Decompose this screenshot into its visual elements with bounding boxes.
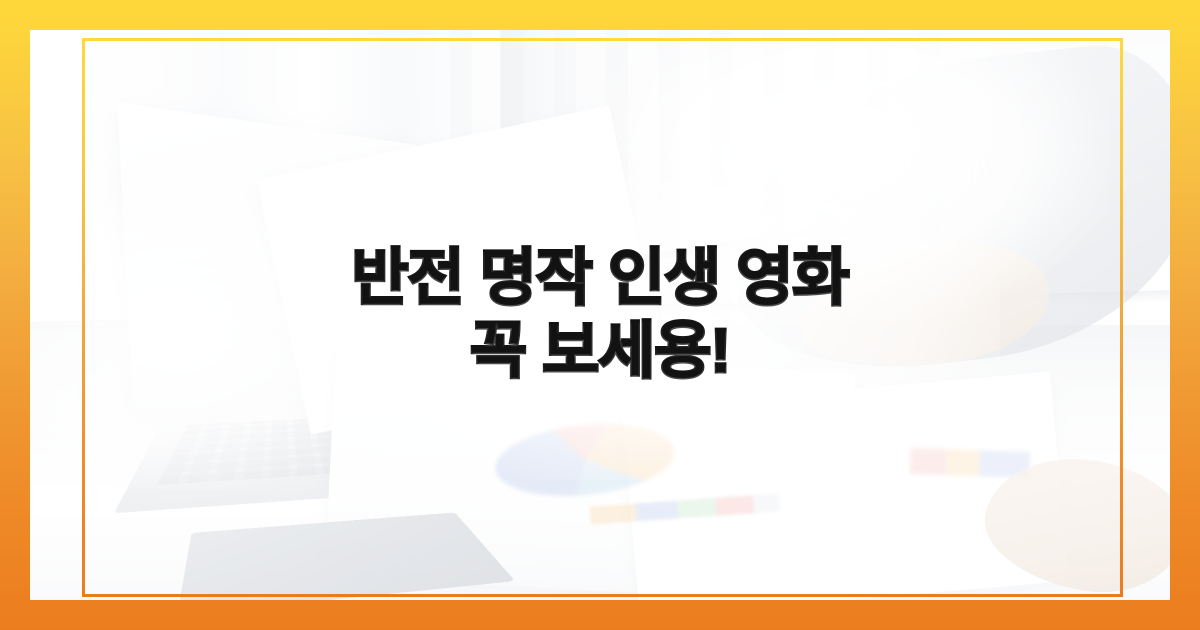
window-blinds-backdrop (30, 30, 670, 330)
blinds-slats (450, 30, 970, 360)
bar-chart-printout (590, 493, 781, 524)
mini-bar-chart-printout (910, 448, 1031, 478)
pen (631, 224, 840, 264)
laptop-keyboard (157, 412, 503, 485)
light-bloom-center (360, 180, 1000, 480)
paper-document-c (622, 372, 1069, 600)
light-bloom-top (590, 30, 1110, 320)
desk-edge (30, 290, 1170, 334)
hand-left (793, 228, 1057, 382)
light-bloom-left (30, 190, 390, 490)
wall-shadow (500, 30, 570, 370)
pie-chart-printout (492, 416, 678, 504)
hand-right (976, 445, 1170, 600)
tablet-device (177, 512, 515, 600)
paper-document-a (257, 105, 663, 434)
desk-surface (30, 325, 1170, 600)
laptop-screen (117, 102, 432, 447)
office-desk-photo (30, 30, 1170, 600)
background-photo (30, 30, 1170, 600)
person-arm (716, 36, 1170, 383)
thumbnail-card: 반전 명작 인생 영화 꼭 보세용! (0, 0, 1200, 630)
paper-document-b (324, 347, 855, 600)
laptop-base (114, 406, 539, 513)
